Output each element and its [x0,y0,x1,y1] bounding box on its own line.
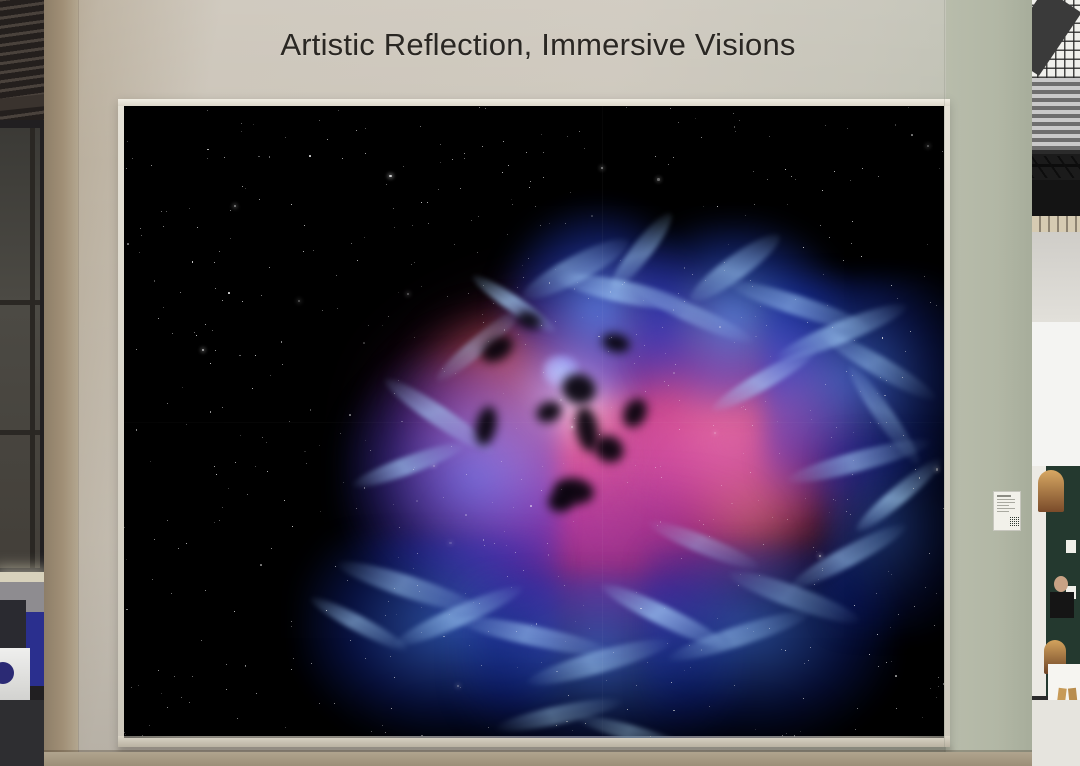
neighbor-booth-dark-panel [0,600,26,652]
placard-text-line [997,508,1015,509]
hall-floor-left [0,700,44,766]
visitor-body [1050,592,1074,618]
upper-hall-wall [1032,232,1080,322]
ceiling-light-bar [0,572,44,582]
placard-heading-bar [997,495,1011,497]
placard-text-line [997,511,1009,512]
neighbor-placard-upper [1066,540,1076,553]
upper-tile-band [1032,216,1080,232]
background-left-hall [0,0,44,766]
visitor-head [1054,576,1068,592]
background-right-hall [1032,0,1080,766]
ceiling-louvers [1032,78,1080,150]
wall-seam-left [78,0,79,766]
placard-text-line [997,502,1015,503]
wall-seam-right [944,0,945,766]
bezel-top-lip [118,99,950,106]
placard-text-line [997,505,1009,506]
wall-left-return-edge [44,0,78,766]
wall-base-seam [44,750,1032,752]
wall-base-skirting [44,752,1032,766]
led-panel-seam-horizontal [124,422,944,423]
qr-code-icon[interactable] [1009,517,1019,527]
booth-headline: Artistic Reflection, Immersive Visions [44,27,1032,63]
wall-info-placard[interactable] [993,491,1021,531]
placard-text-line [997,499,1015,500]
mullion-vertical [30,128,35,568]
wooden-chair-back-upper [1038,470,1064,512]
exhibition-booth-scene: Artistic Reflection, Immersive Visions [0,0,1080,766]
ceiling-dark-band [1032,180,1080,216]
led-video-wall[interactable] [124,106,944,738]
neighbor-white-wall [1032,322,1080,482]
wall-right-return-edge [946,0,1032,766]
truss-diagonals [1032,156,1080,178]
hall-floor-right [1032,700,1080,766]
